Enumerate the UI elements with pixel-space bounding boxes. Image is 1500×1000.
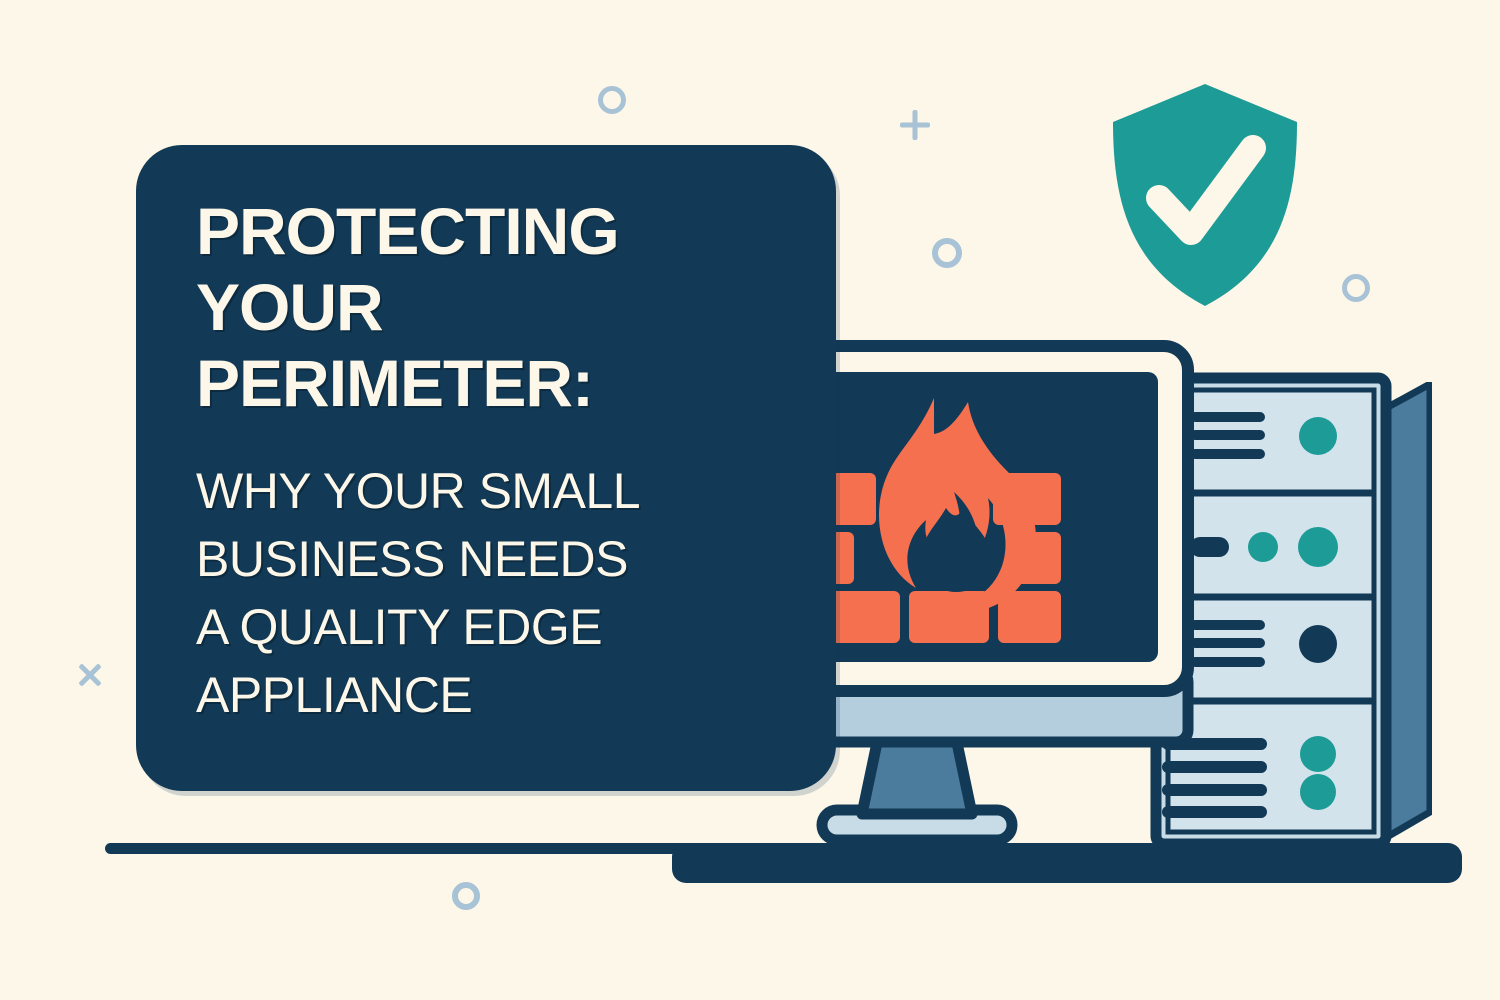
shield-check-icon [1105,80,1305,310]
headline-line-3: PERIMETER: [196,345,796,421]
monitor-stand-neck [862,738,972,814]
subhead-line-3: A QUALITY EDGE [196,593,756,661]
deco-ring-1 [598,86,626,114]
desk-bar [672,843,1462,883]
page-subtitle: WHY YOUR SMALL BUSINESS NEEDS A QUALITY … [196,457,756,729]
headline-line-2: YOUR [196,269,796,345]
subhead-line-1: WHY YOUR SMALL [196,457,756,525]
deco-plus-icon [900,110,930,140]
deco-x-icon [76,661,104,689]
deco-ring-4 [452,882,480,910]
deco-ring-2 [932,238,962,268]
title-panel: PROTECTING YOUR PERIMETER: WHY YOUR SMAL… [136,145,836,791]
subhead-line-2: BUSINESS NEEDS [196,525,756,593]
subhead-line-4: APPLIANCE [196,661,756,729]
page-title: PROTECTING YOUR PERIMETER: [196,193,796,421]
deco-ring-3 [1342,274,1370,302]
headline-line-1: PROTECTING [196,193,796,269]
hero-graphic-canvas: PROTECTING YOUR PERIMETER: WHY YOUR SMAL… [0,0,1500,1000]
